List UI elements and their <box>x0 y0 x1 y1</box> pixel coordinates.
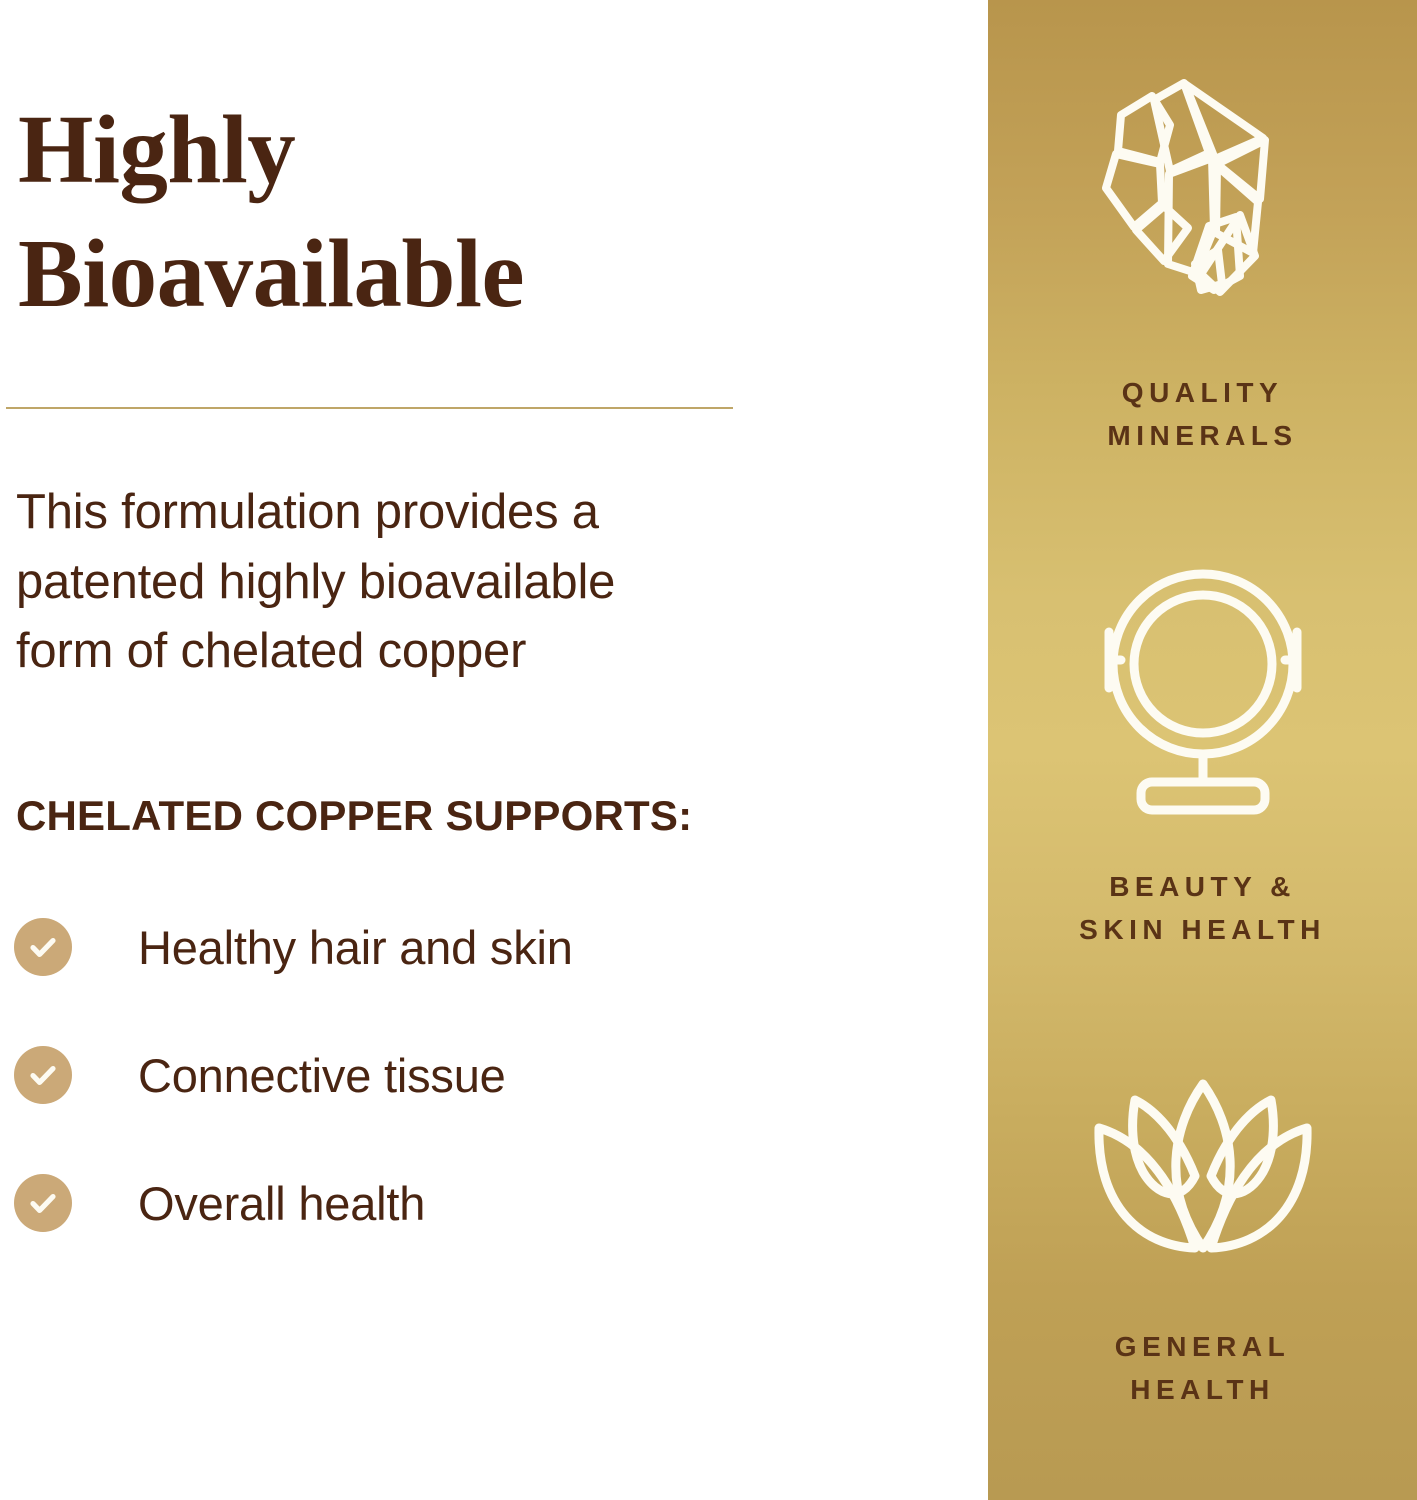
description-text: This formulation provides a patented hig… <box>16 478 846 687</box>
list-item-label: Healthy hair and skin <box>138 924 573 971</box>
check-icon <box>14 1174 72 1232</box>
feature-label: GENERAL HEALTH <box>988 1326 1417 1411</box>
page-title-line-1: Highly <box>18 88 838 212</box>
feature-label-line-2: SKIN HEALTH <box>998 909 1407 952</box>
feature-quality-minerals: QUALITY MINERALS <box>988 78 1417 457</box>
minerals-crystal-icon <box>988 78 1417 328</box>
lotus-flower-icon <box>988 1078 1417 1264</box>
list-item: Healthy hair and skin <box>14 912 774 982</box>
description-line-2: patented highly bioavailable <box>16 548 846 618</box>
feature-general-health: GENERAL HEALTH <box>988 1078 1417 1411</box>
feature-label: QUALITY MINERALS <box>988 372 1417 457</box>
page-title: Highly Bioavailable <box>18 88 838 336</box>
product-benefits-infographic: Highly Bioavailable This formulation pro… <box>0 0 1417 1500</box>
description-line-1: This formulation provides a <box>16 478 846 548</box>
supports-heading: CHELATED COPPER SUPPORTS: <box>16 792 692 840</box>
title-divider <box>6 407 733 409</box>
feature-label-line-2: HEALTH <box>998 1369 1407 1412</box>
check-icon <box>14 918 72 976</box>
feature-beauty-skin-health: BEAUTY & SKIN HEALTH <box>988 560 1417 951</box>
benefits-list: Healthy hair and skin Connective tissue … <box>14 912 774 1238</box>
vanity-mirror-icon <box>988 560 1417 822</box>
gold-feature-sidebar: QUALITY MINERALS <box>988 0 1417 1500</box>
description-line-3: form of chelated copper <box>16 617 846 687</box>
list-item-label: Overall health <box>138 1180 425 1227</box>
left-content-panel: Highly Bioavailable This formulation pro… <box>0 0 988 1500</box>
list-item: Connective tissue <box>14 1040 774 1110</box>
list-item-label: Connective tissue <box>138 1052 506 1099</box>
feature-label-line-2: MINERALS <box>998 415 1407 458</box>
page-title-line-2: Bioavailable <box>18 212 838 336</box>
feature-label-line-1: BEAUTY & <box>998 866 1407 909</box>
feature-label-line-1: QUALITY <box>998 372 1407 415</box>
list-item: Overall health <box>14 1168 774 1238</box>
feature-label-line-1: GENERAL <box>998 1326 1407 1369</box>
check-icon <box>14 1046 72 1104</box>
feature-label: BEAUTY & SKIN HEALTH <box>988 866 1417 951</box>
